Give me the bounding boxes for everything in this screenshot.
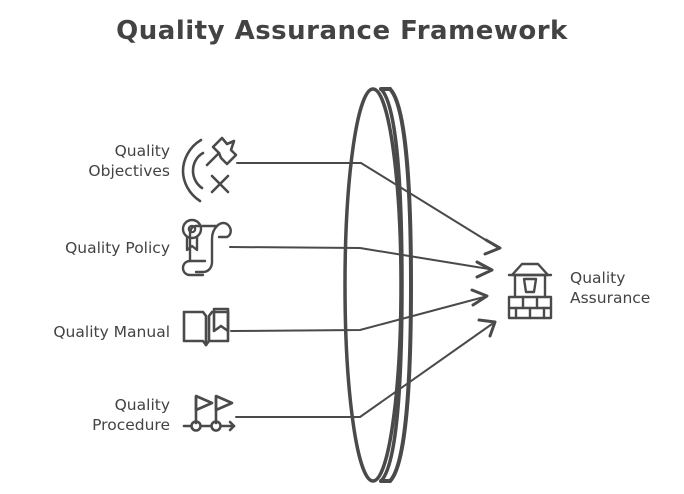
connector-quality-manual <box>231 290 487 331</box>
node-label-quality-procedure: Quality Procedure <box>0 395 170 435</box>
node-label-quality-assurance: Quality Assurance <box>570 268 682 308</box>
open-book-bookmark-icon <box>184 309 228 345</box>
connector-quality-policy <box>230 247 492 277</box>
arrowhead-2 <box>477 262 492 277</box>
connector-quality-procedure <box>236 320 495 417</box>
diagram-canvas: Quality Assurance Framework <box>0 0 684 494</box>
arrowhead-1 <box>485 240 500 254</box>
scroll-certificate-icon <box>183 220 231 275</box>
node-label-quality-objectives: Quality Objectives <box>0 141 170 181</box>
water-well-icon <box>509 264 551 318</box>
node-label-quality-policy: Quality Policy <box>0 238 170 258</box>
goal-target-pin-icon <box>183 138 236 201</box>
node-label-quality-manual: Quality Manual <box>0 322 170 342</box>
lens-shape <box>345 89 411 481</box>
connector-quality-objectives <box>237 163 500 254</box>
milestone-flags-timeline-icon <box>184 396 234 431</box>
